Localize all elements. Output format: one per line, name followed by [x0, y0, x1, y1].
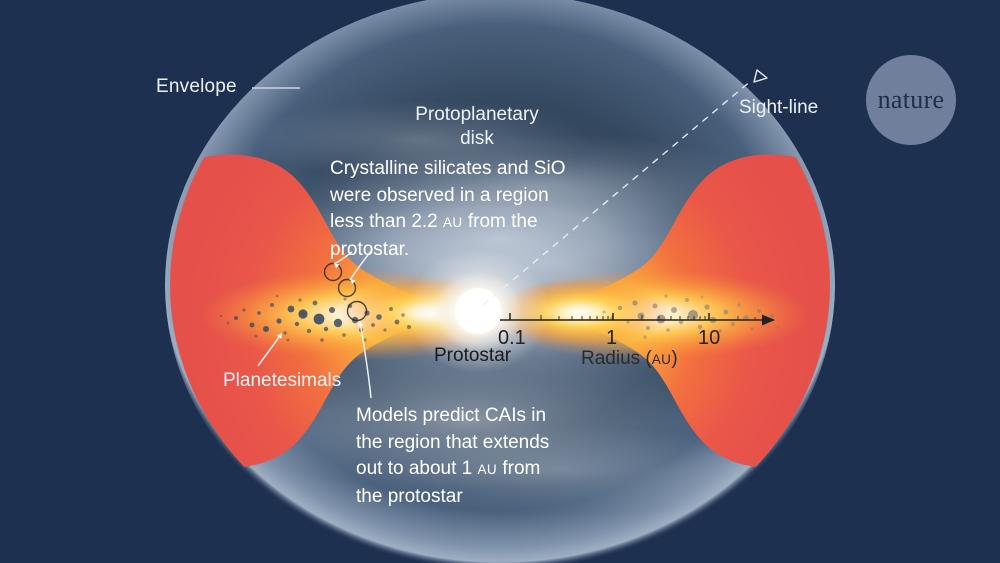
axis-tick-label-1: 1: [606, 327, 617, 350]
annotation-silicates-line1: Crystalline silicates and SiO: [330, 158, 565, 179]
annotation-cais-unit: AU: [478, 462, 498, 477]
axis-title-unit: AU: [652, 352, 672, 367]
annotation-silicates-line3-pre: less than 2.2: [330, 211, 443, 232]
annotation-silicates-line3-post: from the: [463, 211, 538, 232]
nature-wordmark: nature: [878, 85, 945, 115]
axis-title: Radius (AU): [581, 348, 678, 370]
annotation-cais-line2: the region that extends: [356, 432, 549, 453]
axis-tick-label-10: 10: [698, 327, 720, 350]
axis-tick-label-0-1: 0.1: [498, 327, 526, 350]
annotation-silicates-line2: were observed in a region: [330, 185, 549, 206]
figure-canvas: Envelope Sight-line Protoplanetary disk …: [0, 0, 1000, 563]
annotation-cais-line4: the protostar: [356, 486, 463, 507]
annotation-cais-line3-post: from: [497, 458, 540, 479]
annotation-silicates-unit: AU: [443, 215, 463, 230]
annotation-cais-line1: Models predict CAIs in: [356, 405, 546, 426]
axis-title-post: ): [671, 348, 677, 369]
annotation-silicates: Crystalline silicates and SiO were obser…: [330, 156, 565, 263]
annotation-silicates-line4: protostar.: [330, 239, 409, 260]
axis-title-pre: Radius (: [581, 348, 652, 369]
annotation-cais: Models predict CAIs in the region that e…: [356, 403, 549, 510]
annotation-cais-line3-pre: out to about 1: [356, 458, 478, 479]
nature-logo-badge: nature: [866, 55, 956, 145]
